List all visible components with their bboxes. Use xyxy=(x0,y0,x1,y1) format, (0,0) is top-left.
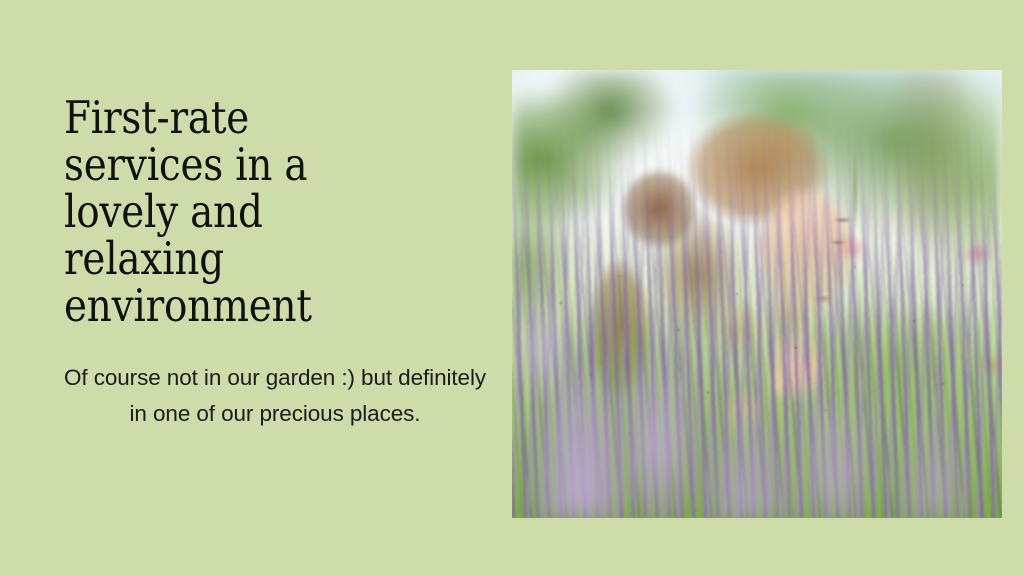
lavender-photo xyxy=(512,70,1002,518)
page-title: First-rate services in a lovely and rela… xyxy=(64,94,467,329)
subtitle-text: Of course not in our garden :) but defin… xyxy=(60,360,490,432)
photo-foreground-bokeh xyxy=(512,70,1002,518)
text-column: First-rate services in a lovely and rela… xyxy=(0,0,500,576)
slide-canvas: First-rate services in a lovely and rela… xyxy=(0,0,1024,576)
